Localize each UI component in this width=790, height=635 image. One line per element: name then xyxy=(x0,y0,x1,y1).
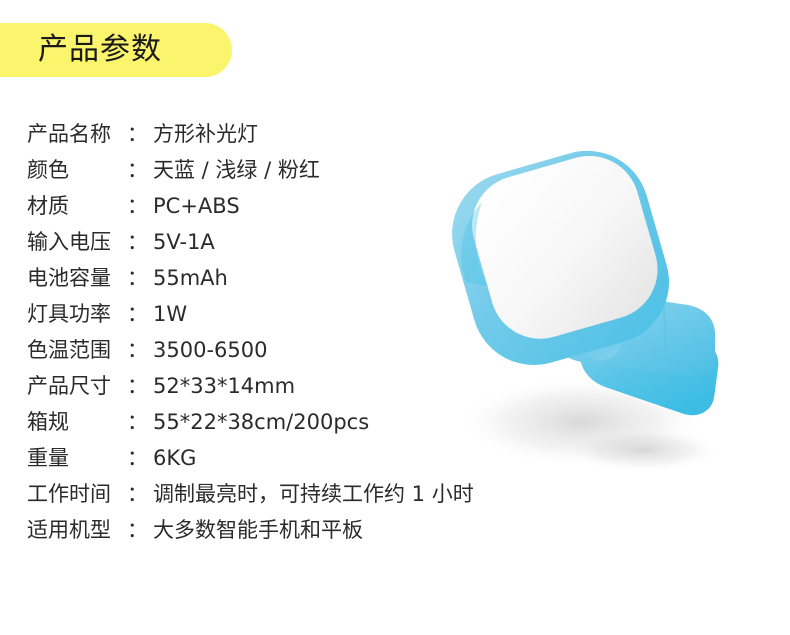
spec-label: 产品名称 xyxy=(27,119,127,149)
spec-separator: ： xyxy=(127,443,148,473)
spec-separator: ： xyxy=(127,227,148,257)
spec-value: 55mAh xyxy=(153,263,228,293)
section-banner: 产品参数 xyxy=(0,23,232,77)
spec-label: 工作时间 xyxy=(27,479,127,509)
spec-label: 灯具功率 xyxy=(27,299,127,329)
spec-value: 调制最亮时，可持续工作约 1 小时 xyxy=(153,479,474,509)
fill-light-illustration xyxy=(432,150,772,480)
product-spec-page: 产品参数 产品名称 ： 方形补光灯 颜色 ： 天蓝 / 浅绿 / 粉红 材质 ：… xyxy=(0,0,790,635)
spec-value: 52*33*14mm xyxy=(153,371,295,401)
spec-row: 工作时间 ： 调制最亮时，可持续工作约 1 小时 xyxy=(27,479,547,515)
spec-value: 6KG xyxy=(153,443,196,473)
spec-value: PC+ABS xyxy=(153,191,240,221)
spec-separator: ： xyxy=(127,119,148,149)
spec-label: 重量 xyxy=(27,443,127,473)
spec-separator: ： xyxy=(127,191,148,221)
spec-label: 产品尺寸 xyxy=(27,371,127,401)
spec-separator: ： xyxy=(127,407,148,437)
spec-value: 5V-1A xyxy=(153,227,215,257)
spec-separator: ： xyxy=(127,479,148,509)
spec-separator: ： xyxy=(127,299,148,329)
spec-separator: ： xyxy=(127,335,148,365)
spec-separator: ： xyxy=(127,155,148,185)
product-photo xyxy=(432,150,772,480)
spec-label: 适用机型 xyxy=(27,515,127,545)
spec-value: 方形补光灯 xyxy=(153,119,258,149)
spec-label: 箱规 xyxy=(27,407,127,437)
spec-value: 大多数智能手机和平板 xyxy=(153,515,363,545)
spec-separator: ： xyxy=(127,263,148,293)
spec-label: 颜色 xyxy=(27,155,127,185)
spec-label: 材质 xyxy=(27,191,127,221)
spec-label: 色温范围 xyxy=(27,335,127,365)
spec-label: 输入电压 xyxy=(27,227,127,257)
spec-separator: ： xyxy=(127,515,148,545)
spec-value: 天蓝 / 浅绿 / 粉红 xyxy=(153,155,320,185)
spec-value: 1W xyxy=(153,299,187,329)
spec-row: 适用机型 ： 大多数智能手机和平板 xyxy=(27,515,547,551)
spec-label: 电池容量 xyxy=(27,263,127,293)
page-title: 产品参数 xyxy=(38,35,162,65)
spec-value: 55*22*38cm/200pcs xyxy=(153,407,369,437)
spec-value: 3500-6500 xyxy=(153,335,267,365)
spec-separator: ： xyxy=(127,371,148,401)
drop-shadow-clip xyxy=(566,428,722,472)
